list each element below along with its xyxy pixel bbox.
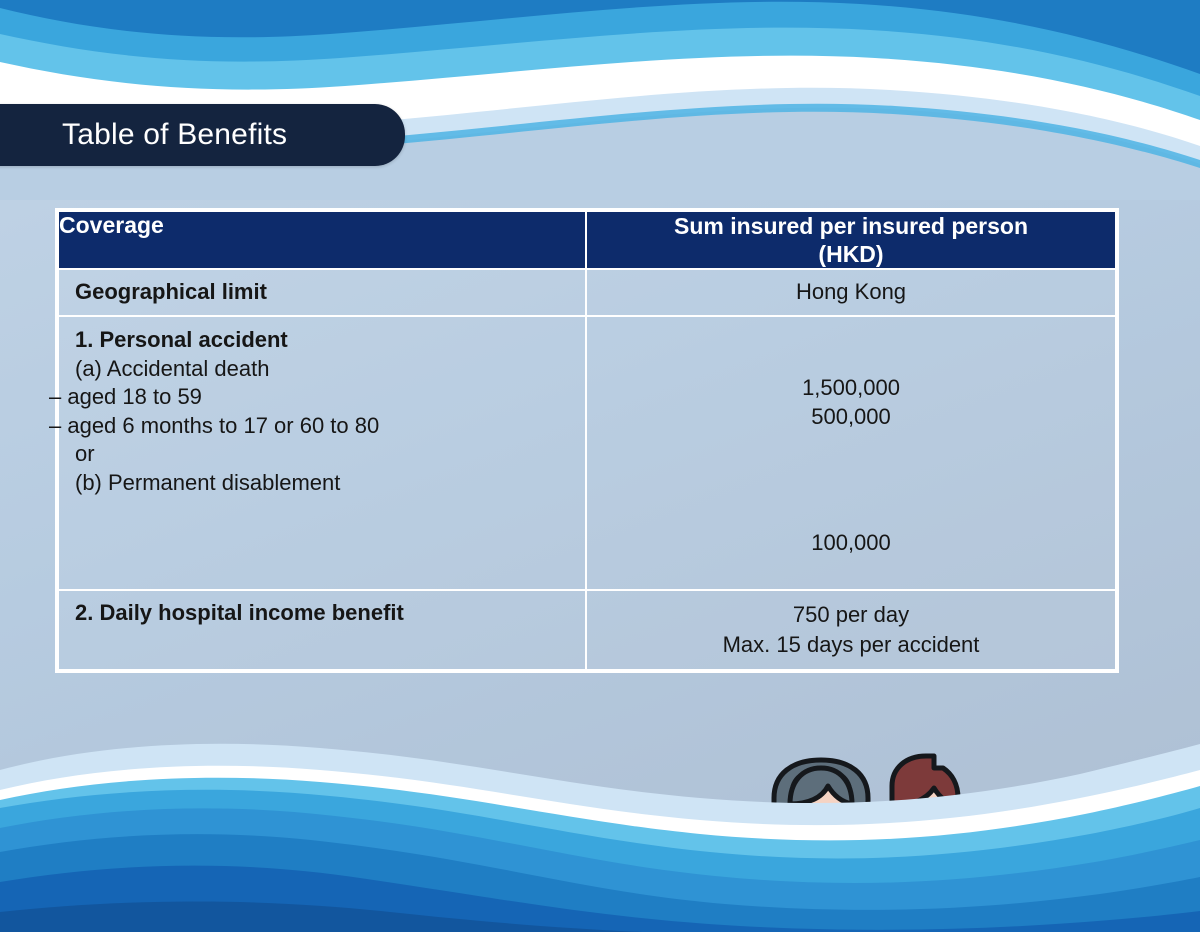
personal-accident-or: or bbox=[75, 440, 569, 469]
slide-title-banner: Table of Benefits bbox=[0, 104, 405, 166]
value-spacer-middle bbox=[603, 431, 1099, 529]
value-accidental-death-18-to-59: 1,500,000 bbox=[603, 374, 1099, 403]
personal-accident-value-list: 1,500,000 500,000 100,000 bbox=[603, 326, 1099, 558]
daily-hospital-income-value-line1: 750 per day bbox=[603, 600, 1099, 629]
daily-hospital-income-value-line2: Max. 15 days per accident bbox=[603, 630, 1099, 659]
table-row-personal-accident: 1. Personal accident (a) Accidental deat… bbox=[58, 316, 1116, 590]
slide-canvas: Table of Benefits Coverage Sum insured p… bbox=[0, 0, 1200, 932]
personal-accident-item-b: (b) Permanent disablement bbox=[75, 469, 569, 498]
column-header-sum-line1: Sum insured per insured person bbox=[587, 212, 1115, 240]
cell-daily-hospital-income-value: 750 per day Max. 15 days per accident bbox=[586, 590, 1116, 670]
table-header: Coverage Sum insured per insured person … bbox=[58, 211, 1116, 269]
personal-accident-label-block: 1. Personal accident (a) Accidental deat… bbox=[59, 317, 585, 508]
cell-geographical-limit-label: Geographical limit bbox=[58, 269, 586, 316]
value-spacer-top bbox=[603, 326, 1099, 374]
cell-daily-hospital-income-label: 2. Daily hospital income benefit bbox=[58, 590, 586, 670]
personal-accident-item-a: (a) Accidental death bbox=[75, 355, 569, 384]
daily-hospital-income-value-block: 750 per day Max. 15 days per accident bbox=[587, 591, 1115, 669]
personal-accident-dash-aged-6-months-to-17-or-60-to-80: – aged 6 months to 17 or 60 to 80 bbox=[75, 412, 569, 441]
cell-personal-accident-label: 1. Personal accident (a) Accidental deat… bbox=[58, 316, 586, 590]
table-body: Geographical limit Hong Kong 1. Personal… bbox=[58, 269, 1116, 670]
table-row-daily-hospital-income: 2. Daily hospital income benefit 750 per… bbox=[58, 590, 1116, 670]
column-header-coverage: Coverage bbox=[58, 211, 586, 269]
value-permanent-disablement: 100,000 bbox=[603, 529, 1099, 558]
column-header-sum-line2: (HKD) bbox=[587, 240, 1115, 268]
page-title: Table of Benefits bbox=[0, 118, 287, 152]
personal-accident-line-list: 1. Personal accident (a) Accidental deat… bbox=[75, 326, 569, 498]
geographical-limit-label: Geographical limit bbox=[59, 270, 585, 315]
personal-accident-value-block: 1,500,000 500,000 100,000 bbox=[587, 317, 1115, 568]
column-header-sum-insured: Sum insured per insured person (HKD) bbox=[586, 211, 1116, 269]
daily-hospital-income-label: 2. Daily hospital income benefit bbox=[59, 591, 585, 636]
cell-geographical-limit-value: Hong Kong bbox=[586, 269, 1116, 316]
table-row-geographical-limit: Geographical limit Hong Kong bbox=[58, 269, 1116, 316]
personal-accident-dash-aged-18-to-59: – aged 18 to 59 bbox=[75, 383, 569, 412]
benefits-table: Coverage Sum insured per insured person … bbox=[57, 210, 1117, 671]
value-accidental-death-6-months-to-17-or-60-to-80: 500,000 bbox=[603, 403, 1099, 432]
personal-accident-heading: 1. Personal accident bbox=[75, 326, 569, 355]
cell-personal-accident-values: 1,500,000 500,000 100,000 bbox=[586, 316, 1116, 590]
geographical-limit-value: Hong Kong bbox=[587, 270, 1115, 315]
table-header-row: Coverage Sum insured per insured person … bbox=[58, 211, 1116, 269]
